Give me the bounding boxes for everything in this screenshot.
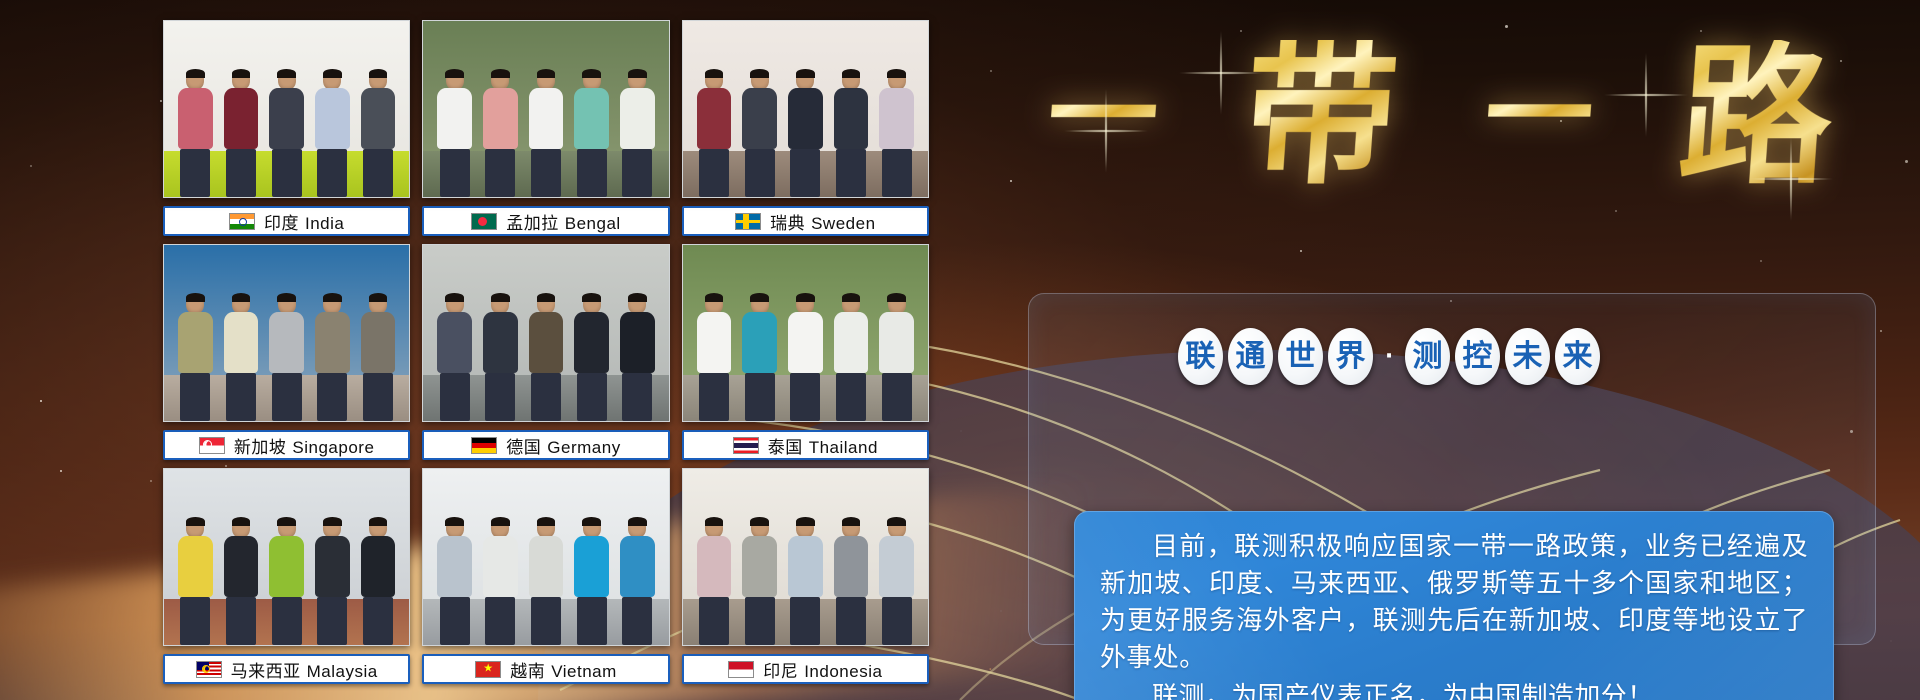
- slogan-separator-dot: ·: [1378, 346, 1400, 368]
- person-figure: [742, 518, 777, 645]
- legs: [363, 373, 393, 421]
- title-char-1: 一: [1044, 61, 1162, 171]
- vietnam-flag-icon: [475, 661, 501, 678]
- country-label-text: 越南Vietnam: [510, 657, 617, 682]
- country-label-text: 新加坡Singapore: [234, 433, 375, 458]
- person-figure: [834, 70, 869, 197]
- torso: [269, 88, 304, 148]
- country-label-singapore[interactable]: 新加坡Singapore: [163, 430, 410, 460]
- hair: [232, 293, 251, 302]
- person-figure: [315, 70, 350, 197]
- country-label-germany[interactable]: 德国Germany: [422, 430, 669, 460]
- torso: [529, 536, 564, 596]
- legs: [485, 373, 515, 421]
- hair: [750, 293, 769, 302]
- photo-sweden: [682, 20, 929, 198]
- singapore-flag-icon: [199, 437, 225, 454]
- country-name-cn: 马来西亚: [231, 662, 301, 681]
- photo-people-group: [164, 46, 409, 197]
- torso: [224, 536, 259, 596]
- hair: [582, 293, 601, 302]
- person-figure: [224, 70, 259, 197]
- torso: [483, 536, 518, 596]
- country-label-thailand[interactable]: 泰国Thailand: [682, 430, 929, 460]
- country-label-text: 孟加拉Bengal: [506, 209, 620, 234]
- torso: [224, 312, 259, 372]
- torso: [879, 88, 914, 148]
- torso: [315, 88, 350, 148]
- belt-and-road-title: 一 带 一 路: [1030, 8, 1850, 223]
- person-figure: [361, 294, 396, 421]
- legs: [363, 597, 393, 645]
- photo-people-group: [683, 46, 928, 197]
- legs: [440, 373, 470, 421]
- country-name-en: Thailand: [809, 438, 878, 457]
- title-char-4: 路: [1675, 40, 1838, 192]
- legs: [317, 373, 347, 421]
- hair: [186, 69, 205, 78]
- legs: [226, 149, 256, 197]
- torso: [178, 312, 213, 372]
- photo-singapore: [163, 244, 410, 422]
- country-label-malaysia[interactable]: 马来西亚Malaysia: [163, 654, 410, 684]
- legs: [577, 373, 607, 421]
- gallery-cell-germany[interactable]: 德国Germany: [422, 244, 669, 460]
- sparkle-icon: [1790, 178, 1792, 180]
- legs: [485, 149, 515, 197]
- hair: [705, 293, 724, 302]
- hair: [186, 517, 205, 526]
- country-label-text: 泰国Thailand: [768, 433, 878, 458]
- hair: [887, 69, 906, 78]
- slogan-badge-6: 测: [1405, 328, 1450, 385]
- country-name-en: Malaysia: [307, 662, 378, 681]
- legs: [790, 597, 820, 645]
- thailand-flag-icon: [733, 437, 759, 454]
- torso: [529, 312, 564, 372]
- person-figure: [224, 518, 259, 645]
- photo-bengal: [422, 20, 669, 198]
- company-slogan: 联通世界·测控未来: [1178, 328, 1600, 385]
- photo-people-group: [423, 46, 668, 197]
- hair: [796, 69, 815, 78]
- hair: [491, 517, 510, 526]
- torso: [269, 312, 304, 372]
- legs: [440, 149, 470, 197]
- person-figure: [788, 70, 823, 197]
- legs: [180, 373, 210, 421]
- hair: [537, 517, 556, 526]
- country-name-cn: 印度: [264, 214, 299, 233]
- hair: [369, 517, 388, 526]
- slogan-badge-8: 未: [1505, 328, 1550, 385]
- person-figure: [315, 294, 350, 421]
- person-figure: [437, 70, 472, 197]
- photo-malaysia: [163, 468, 410, 646]
- person-figure: [361, 518, 396, 645]
- country-label-bengal[interactable]: 孟加拉Bengal: [422, 206, 669, 236]
- legs: [317, 149, 347, 197]
- person-figure: [697, 294, 732, 421]
- legs: [836, 149, 866, 197]
- hair: [842, 293, 861, 302]
- hair: [537, 293, 556, 302]
- country-label-text: 印度India: [264, 209, 344, 234]
- person-figure: [529, 518, 564, 645]
- person-figure: [437, 518, 472, 645]
- hair: [842, 69, 861, 78]
- hair: [582, 517, 601, 526]
- torso: [697, 536, 732, 596]
- hair: [232, 517, 251, 526]
- country-name-en: Germany: [547, 438, 620, 457]
- legs: [180, 597, 210, 645]
- torso: [483, 312, 518, 372]
- germany-flag-icon: [471, 437, 497, 454]
- person-figure: [834, 294, 869, 421]
- legs: [836, 373, 866, 421]
- legs: [622, 597, 652, 645]
- person-figure: [574, 70, 609, 197]
- person-figure: [361, 70, 396, 197]
- legs: [440, 597, 470, 645]
- legs: [745, 373, 775, 421]
- gallery-cell-malaysia[interactable]: 马来西亚Malaysia: [163, 468, 410, 684]
- hair: [232, 69, 251, 78]
- hair: [445, 293, 464, 302]
- hair: [323, 517, 342, 526]
- photo-vietnam: [422, 468, 669, 646]
- torso: [437, 536, 472, 596]
- torso: [742, 312, 777, 372]
- about-paragraph-box: 目前，联测积极响应国家一带一路政策，业务已经遍及新加坡、印度、马来西亚、俄罗斯等…: [1074, 511, 1834, 700]
- torso: [834, 536, 869, 596]
- person-figure: [574, 294, 609, 421]
- slogan-badge-2: 通: [1228, 328, 1273, 385]
- country-name-en: Indonesia: [804, 662, 882, 681]
- hair: [491, 293, 510, 302]
- hair: [628, 69, 647, 78]
- torso: [483, 88, 518, 148]
- photo-people-group: [683, 270, 928, 421]
- legs: [485, 597, 515, 645]
- photo-people-group: [423, 270, 668, 421]
- hair: [705, 517, 724, 526]
- indonesia-flag-icon: [728, 661, 754, 678]
- legs: [531, 149, 561, 197]
- person-figure: [620, 70, 655, 197]
- legs: [745, 149, 775, 197]
- torso: [620, 312, 655, 372]
- torso: [315, 312, 350, 372]
- slogan-badge-4: 界: [1328, 328, 1373, 385]
- hair: [323, 293, 342, 302]
- person-figure: [742, 70, 777, 197]
- hair: [277, 293, 296, 302]
- hair: [750, 69, 769, 78]
- legs: [699, 373, 729, 421]
- hair: [186, 293, 205, 302]
- legs: [317, 597, 347, 645]
- person-figure: [620, 294, 655, 421]
- legs: [622, 373, 652, 421]
- bangladesh-flag-icon: [471, 213, 497, 230]
- hair: [796, 293, 815, 302]
- torso: [574, 536, 609, 596]
- person-figure: [269, 518, 304, 645]
- hair: [705, 69, 724, 78]
- gallery-cell-indonesia[interactable]: 印尼Indonesia: [682, 468, 929, 684]
- torso: [178, 536, 213, 596]
- photo-thailand: [682, 244, 929, 422]
- torso: [574, 312, 609, 372]
- photo-people-group: [683, 494, 928, 645]
- about-paragraph-line-2: 联测，为国产仪表正名，为中国制造加分！: [1100, 679, 1808, 700]
- person-figure: [269, 70, 304, 197]
- country-label-text: 德国Germany: [506, 433, 620, 458]
- gallery-cell-india[interactable]: 印度India: [163, 20, 410, 236]
- malaysia-flag-icon: [196, 661, 222, 678]
- country-label-vietnam[interactable]: 越南Vietnam: [422, 654, 669, 684]
- torso: [224, 88, 259, 148]
- hair: [887, 517, 906, 526]
- torso: [742, 536, 777, 596]
- legs: [882, 149, 912, 197]
- slogan-badge-3: 世: [1278, 328, 1323, 385]
- country-name-cn: 越南: [510, 662, 545, 681]
- title-char-3: 一: [1481, 62, 1597, 170]
- country-name-en: Bengal: [565, 214, 621, 233]
- person-figure: [834, 518, 869, 645]
- legs: [226, 373, 256, 421]
- country-label-indonesia[interactable]: 印尼Indonesia: [682, 654, 929, 684]
- hair: [445, 69, 464, 78]
- torso: [529, 88, 564, 148]
- legs: [363, 149, 393, 197]
- hair: [628, 293, 647, 302]
- person-figure: [483, 518, 518, 645]
- sweden-flag-icon: [735, 213, 761, 230]
- sparkle-icon: [1645, 94, 1647, 96]
- hair: [750, 517, 769, 526]
- torso: [788, 536, 823, 596]
- person-figure: [178, 70, 213, 197]
- slogan-badge-7: 控: [1455, 328, 1500, 385]
- country-label-sweden[interactable]: 瑞典Sweden: [682, 206, 929, 236]
- country-name-cn: 瑞典: [770, 214, 805, 233]
- legs: [622, 149, 652, 197]
- country-photo-grid: 印度India孟加拉Bengal瑞典Sweden新加坡Singapore德国Ge…: [163, 20, 929, 680]
- photo-germany: [422, 244, 669, 422]
- torso: [437, 88, 472, 148]
- torso: [269, 536, 304, 596]
- torso: [834, 312, 869, 372]
- photo-people-group: [164, 494, 409, 645]
- torso: [178, 88, 213, 148]
- legs: [531, 373, 561, 421]
- country-label-india[interactable]: 印度India: [163, 206, 410, 236]
- country-name-en: Vietnam: [551, 662, 617, 681]
- person-figure: [879, 518, 914, 645]
- torso: [361, 536, 396, 596]
- torso: [742, 88, 777, 148]
- person-figure: [437, 294, 472, 421]
- photo-people-group: [423, 494, 668, 645]
- country-label-text: 瑞典Sweden: [770, 209, 875, 234]
- gallery-cell-singapore[interactable]: 新加坡Singapore: [163, 244, 410, 460]
- country-name-cn: 新加坡: [234, 438, 287, 457]
- person-figure: [788, 518, 823, 645]
- legs: [180, 149, 210, 197]
- torso: [361, 312, 396, 372]
- person-figure: [574, 518, 609, 645]
- person-figure: [315, 518, 350, 645]
- torso: [834, 88, 869, 148]
- hair: [277, 517, 296, 526]
- country-name-en: India: [305, 214, 344, 233]
- hair: [369, 293, 388, 302]
- person-figure: [697, 518, 732, 645]
- banner-stage: 印度India孟加拉Bengal瑞典Sweden新加坡Singapore德国Ge…: [0, 0, 1920, 700]
- person-figure: [483, 294, 518, 421]
- person-figure: [178, 518, 213, 645]
- legs: [790, 149, 820, 197]
- legs: [272, 597, 302, 645]
- sparkle-icon: [1105, 130, 1107, 132]
- legs: [272, 149, 302, 197]
- legs: [577, 597, 607, 645]
- legs: [699, 149, 729, 197]
- hair: [582, 69, 601, 78]
- legs: [577, 149, 607, 197]
- legs: [226, 597, 256, 645]
- hair: [277, 69, 296, 78]
- gallery-cell-thailand[interactable]: 泰国Thailand: [682, 244, 929, 460]
- torso: [437, 312, 472, 372]
- slogan-badge-1: 联: [1178, 328, 1223, 385]
- torso: [788, 88, 823, 148]
- hair: [323, 69, 342, 78]
- country-label-text: 印尼Indonesia: [763, 657, 882, 682]
- hair: [369, 69, 388, 78]
- india-flag-icon: [229, 213, 255, 230]
- country-name-en: Sweden: [811, 214, 875, 233]
- hair: [445, 517, 464, 526]
- country-name-cn: 孟加拉: [506, 214, 559, 233]
- photo-indonesia: [682, 468, 929, 646]
- legs: [531, 597, 561, 645]
- country-name-cn: 德国: [506, 438, 541, 457]
- person-figure: [483, 70, 518, 197]
- person-figure: [788, 294, 823, 421]
- torso: [620, 88, 655, 148]
- person-figure: [178, 294, 213, 421]
- torso: [788, 312, 823, 372]
- torso: [574, 88, 609, 148]
- torso: [879, 536, 914, 596]
- gallery-cell-bengal[interactable]: 孟加拉Bengal: [422, 20, 669, 236]
- legs: [790, 373, 820, 421]
- hair: [887, 293, 906, 302]
- torso: [620, 536, 655, 596]
- person-figure: [620, 518, 655, 645]
- torso: [361, 88, 396, 148]
- photo-india: [163, 20, 410, 198]
- hair: [796, 517, 815, 526]
- hair: [842, 517, 861, 526]
- person-figure: [742, 294, 777, 421]
- photo-people-group: [164, 270, 409, 421]
- legs: [882, 597, 912, 645]
- gallery-cell-sweden[interactable]: 瑞典Sweden: [682, 20, 929, 236]
- person-figure: [529, 294, 564, 421]
- sparkle-icon: [1220, 72, 1222, 74]
- legs: [882, 373, 912, 421]
- legs: [745, 597, 775, 645]
- title-char-2: 带: [1240, 40, 1403, 192]
- about-paragraph-line-1: 目前，联测积极响应国家一带一路政策，业务已经遍及新加坡、印度、马来西亚、俄罗斯等…: [1100, 529, 1808, 677]
- person-figure: [879, 70, 914, 197]
- torso: [697, 312, 732, 372]
- legs: [699, 597, 729, 645]
- country-label-text: 马来西亚Malaysia: [231, 657, 378, 682]
- person-figure: [697, 70, 732, 197]
- country-name-en: Singapore: [292, 438, 374, 457]
- person-figure: [529, 70, 564, 197]
- hair: [537, 69, 556, 78]
- person-figure: [224, 294, 259, 421]
- country-name-cn: 印尼: [763, 662, 798, 681]
- torso: [315, 536, 350, 596]
- slogan-badge-9: 来: [1555, 328, 1600, 385]
- gallery-cell-vietnam[interactable]: 越南Vietnam: [422, 468, 669, 684]
- person-figure: [879, 294, 914, 421]
- hair: [628, 517, 647, 526]
- torso: [879, 312, 914, 372]
- torso: [697, 88, 732, 148]
- legs: [836, 597, 866, 645]
- legs: [272, 373, 302, 421]
- country-name-cn: 泰国: [768, 438, 803, 457]
- person-figure: [269, 294, 304, 421]
- hair: [491, 69, 510, 78]
